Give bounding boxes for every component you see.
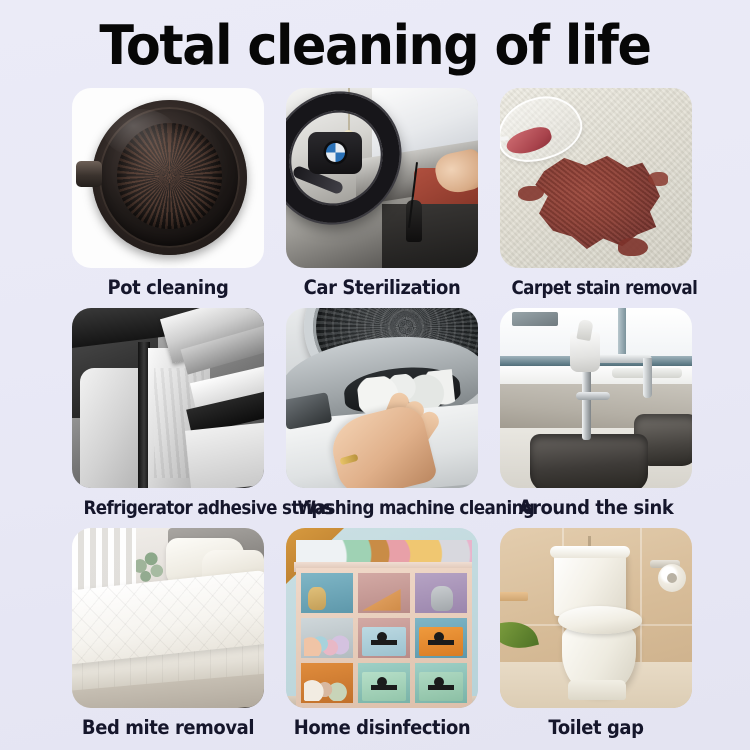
toilet-paper-roll <box>658 564 686 592</box>
grid-item-pot-cleaning[interactable]: Pot cleaning <box>72 88 264 308</box>
storage-box <box>419 672 463 702</box>
page-title: Total cleaning of life <box>23 16 728 76</box>
storage-box <box>362 627 406 657</box>
carpet-stain-removal-image <box>500 88 692 268</box>
bed-mite-removal-image <box>72 528 264 708</box>
wall-tile-grout <box>640 528 642 678</box>
wine-splatter <box>618 238 648 256</box>
pot-cleaning-image <box>72 88 264 268</box>
storage-box <box>362 672 406 702</box>
wall-shelf <box>500 592 528 601</box>
shelf-cube <box>415 618 467 658</box>
toilet-tank-lid <box>550 546 630 558</box>
toy-cat <box>431 586 454 611</box>
toy-slide <box>362 589 400 611</box>
bmw-logo-icon <box>326 143 345 162</box>
caption-home-disinfection: Home disinfection <box>294 708 471 748</box>
faucet-lever <box>576 392 610 400</box>
wine-stain <box>534 154 660 250</box>
wine-splatter <box>518 186 544 201</box>
caption-around-the-sink: Around the sink <box>508 488 685 528</box>
faucet-spout <box>643 358 652 398</box>
storage-box <box>419 627 463 657</box>
grid-item-carpet-stain-removal[interactable]: Carpet stain removal <box>500 88 692 308</box>
pan-handle <box>76 161 102 187</box>
grid-item-refrigerator-adhesive-strips[interactable]: Refrigerator adhesive strips <box>72 308 264 528</box>
toy-plush <box>304 675 349 701</box>
grid-item-bed-mite-removal[interactable]: Bed mite removal <box>72 528 264 748</box>
grid-item-washing-machine-cleaning[interactable]: Washing machine cleaning <box>286 308 478 528</box>
use-case-grid: Pot cleaning Car Sterilization <box>72 88 692 748</box>
shelf-cube <box>358 618 410 658</box>
toilet-base <box>568 680 626 700</box>
sink-basin-main <box>530 434 648 488</box>
faucet-column <box>582 362 591 440</box>
plant-leaf <box>500 615 539 654</box>
home-disinfection-image <box>286 528 478 708</box>
grid-item-toilet-gap[interactable]: Toilet gap <box>500 528 692 748</box>
shelf-cube <box>301 573 353 613</box>
toilet-seat <box>558 606 642 634</box>
caption-car-sterilization: Car Sterilization <box>294 268 471 308</box>
around-the-sink-image <box>500 308 692 488</box>
center-console <box>382 204 478 268</box>
pan-rim <box>92 100 247 255</box>
shelf-cube <box>415 663 467 703</box>
window-distant-object <box>512 312 558 326</box>
grid-item-car-sterilization[interactable]: Car Sterilization <box>286 88 478 308</box>
fridge-lower-panel <box>185 421 264 488</box>
shelf-cube <box>358 573 410 613</box>
caption-pot-cleaning: Pot cleaning <box>80 268 257 308</box>
refrigerator-adhesive-strips-image <box>72 308 264 488</box>
toilet-gap-image <box>500 528 692 708</box>
shelf-cube <box>358 663 410 703</box>
wine-splatter <box>648 172 668 186</box>
car-sterilization-image <box>286 88 478 268</box>
shelf-top-decor <box>296 540 472 564</box>
shelf-cube <box>301 618 353 658</box>
caption-washing-machine-cleaning: Washing machine cleaning <box>298 488 467 528</box>
shelf-cube <box>415 573 467 613</box>
caption-bed-mite-removal: Bed mite removal <box>80 708 257 748</box>
toy-bottles <box>304 631 349 656</box>
caption-carpet-stain-removal: Carpet stain removal <box>512 268 681 308</box>
cube-shelf-unit <box>296 568 472 708</box>
toy-bear <box>308 587 326 609</box>
fridge-door-panel <box>80 368 142 488</box>
grid-item-home-disinfection[interactable]: Home disinfection <box>286 528 478 748</box>
shelf-cube <box>301 663 353 703</box>
caption-refrigerator-adhesive-strips: Refrigerator adhesive strips <box>84 488 253 528</box>
grid-item-around-the-sink[interactable]: Around the sink <box>500 308 692 528</box>
caption-toilet-gap: Toilet gap <box>508 708 685 748</box>
washing-machine-cleaning-image <box>286 308 478 488</box>
